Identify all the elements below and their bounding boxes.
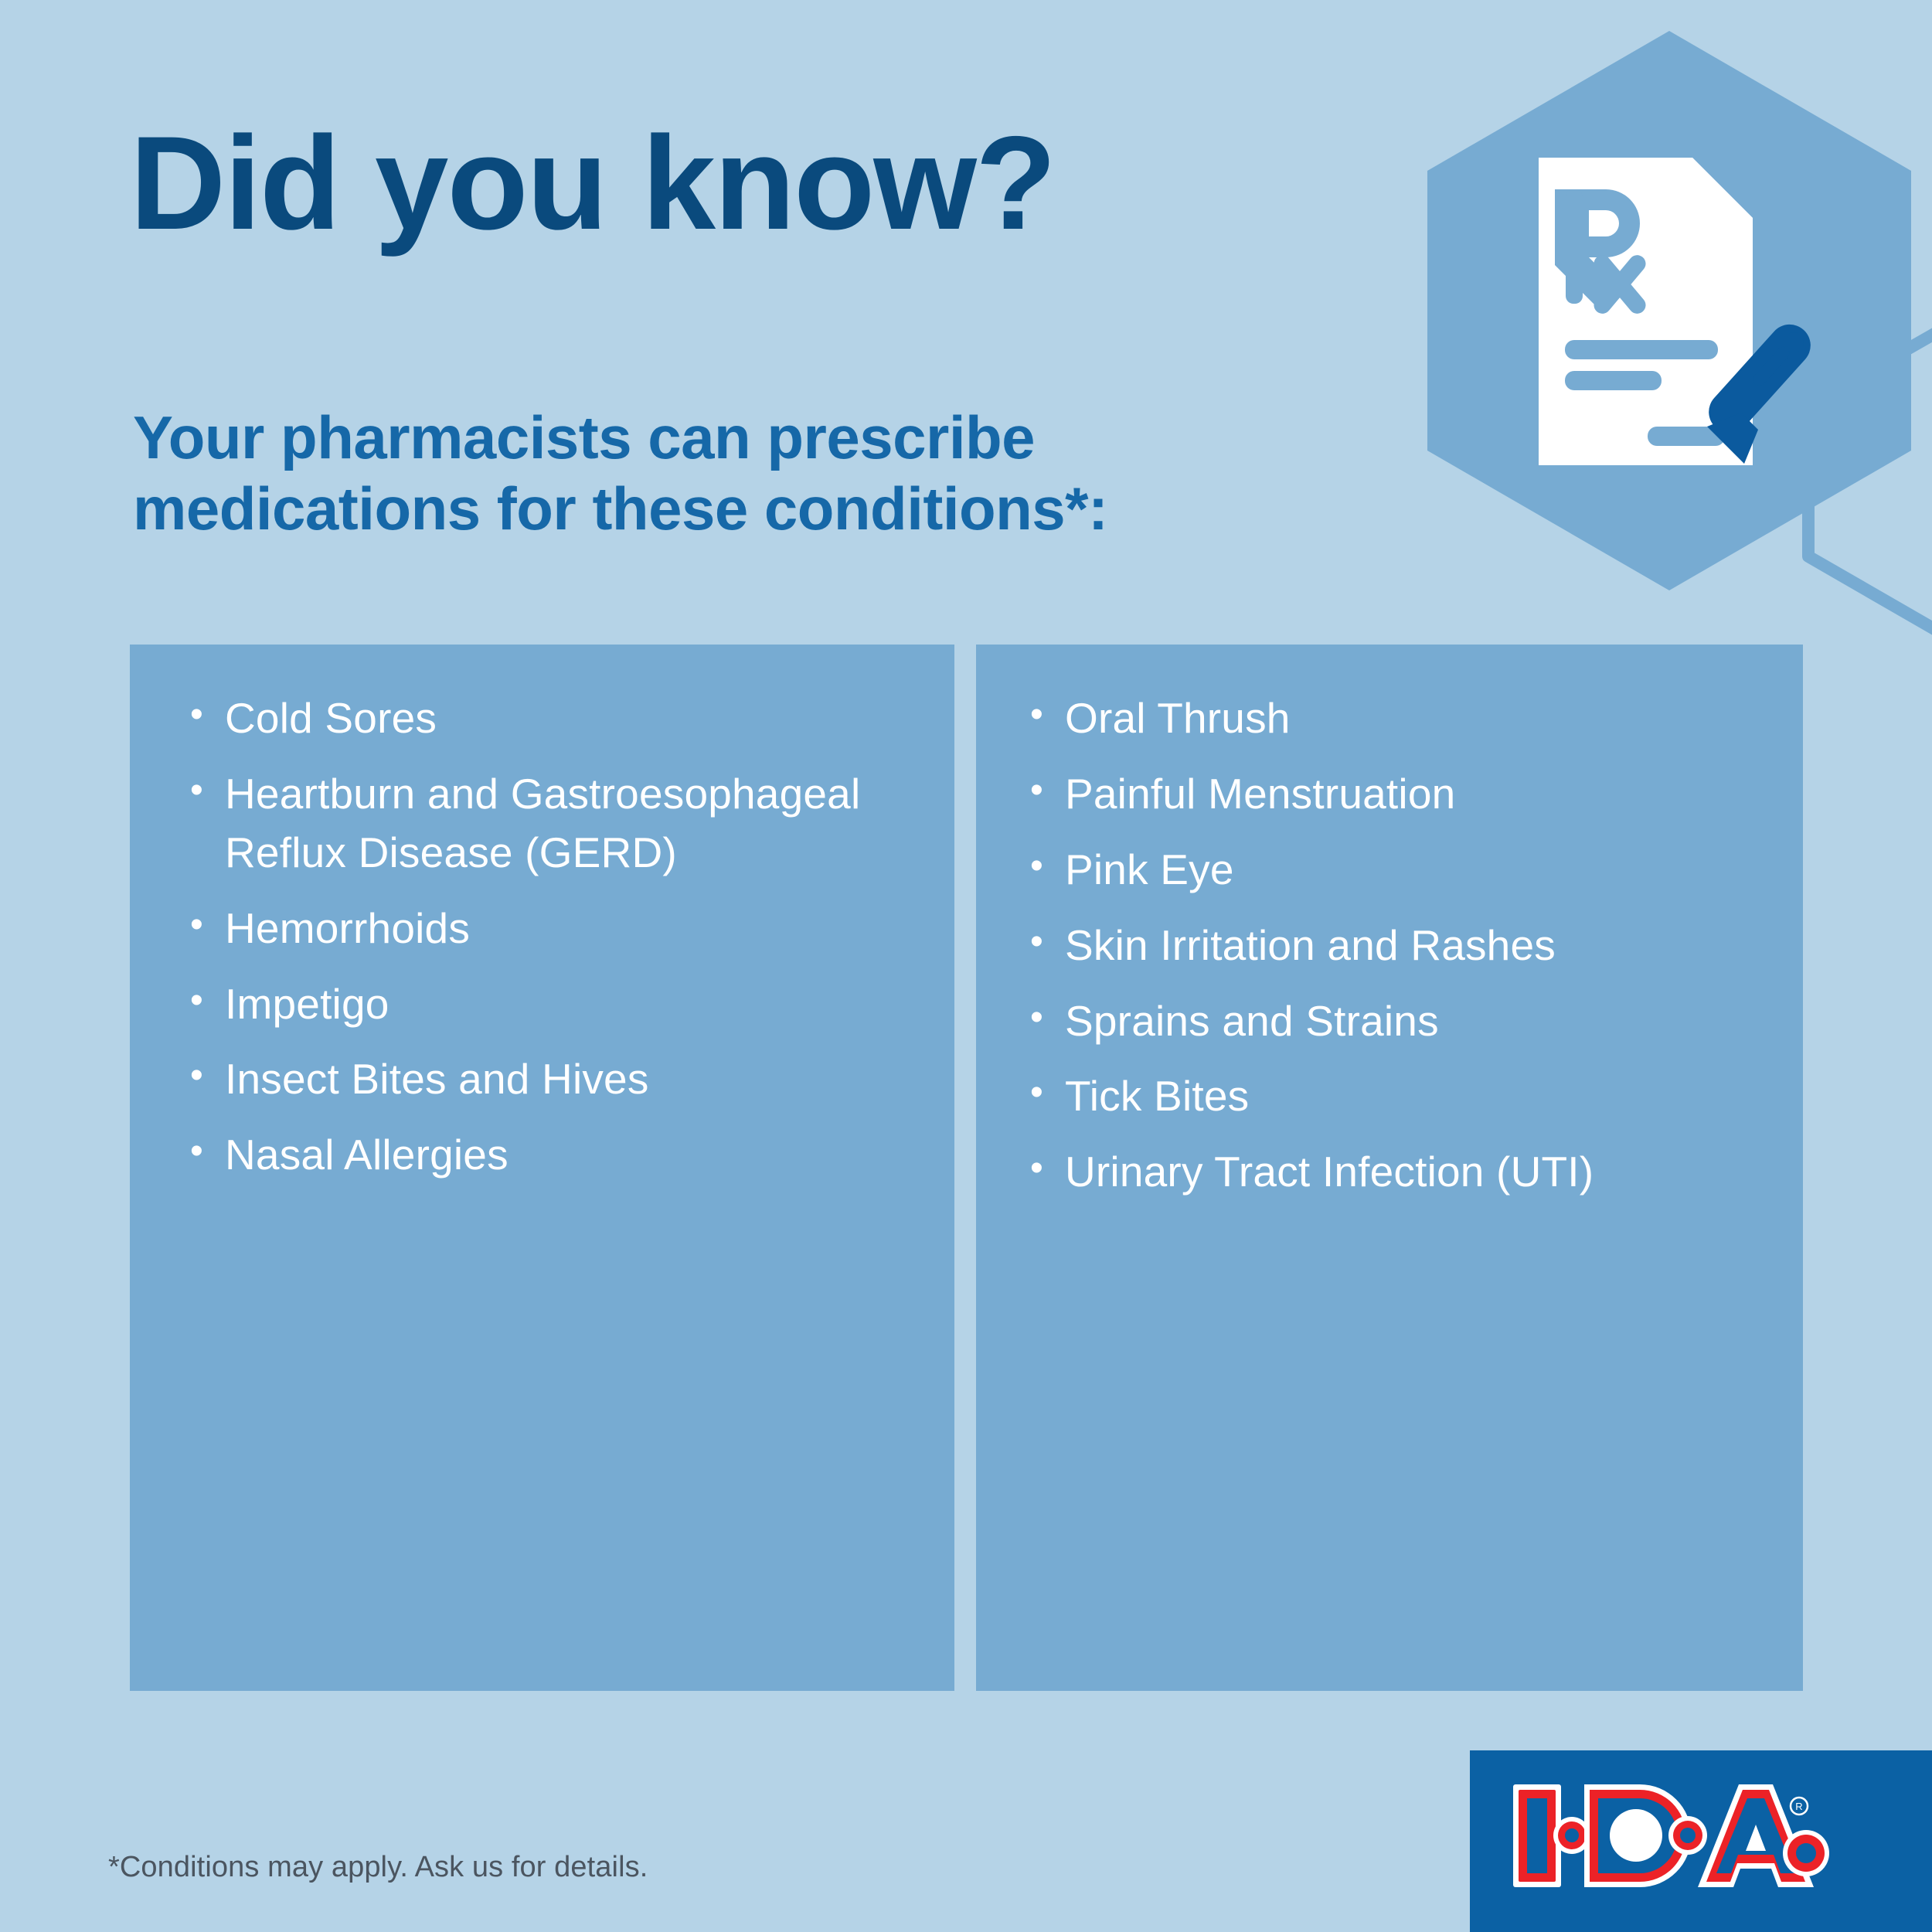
ida-logo-block: R — [1470, 1750, 1932, 1932]
list-item: Impetigo — [190, 975, 908, 1034]
list-item: Nasal Allergies — [190, 1126, 908, 1185]
pen-icon — [1700, 316, 1819, 464]
subtitle-line-1: Your pharmacists can prescribe — [133, 402, 1108, 473]
list-item: Urinary Tract Infection (UTI) — [1030, 1143, 1757, 1202]
conditions-list-left: Cold Sores Heartburn and Gastroesophagea… — [130, 689, 954, 1185]
page-title: Did you know? — [130, 116, 1055, 251]
page-subtitle: Your pharmacists can prescribe medicatio… — [133, 402, 1108, 544]
conditions-column-left: Cold Sores Heartburn and Gastroesophagea… — [130, 645, 954, 1691]
list-item: Heartburn and Gastroesophageal Reflux Di… — [190, 765, 908, 883]
list-item: Pink Eye — [1030, 841, 1757, 900]
list-item: Tick Bites — [1030, 1067, 1757, 1126]
rx-prescription-document-icon — [1539, 158, 1753, 465]
hexagon-outline-decoration — [1808, 331, 1932, 632]
conditions-panels: Cold Sores Heartburn and Gastroesophagea… — [130, 645, 1803, 1691]
list-item: Hemorrhoids — [190, 900, 908, 958]
list-item: Oral Thrush — [1030, 689, 1757, 748]
footnote-disclaimer: *Conditions may apply. Ask us for detail… — [108, 1851, 648, 1884]
list-item: Skin Irritation and Rashes — [1030, 917, 1757, 975]
ida-logo-icon: R — [1510, 1780, 1835, 1892]
list-item: Insect Bites and Hives — [190, 1050, 908, 1109]
subtitle-line-2: medications for these conditions*: — [133, 473, 1108, 544]
svg-text:R: R — [1795, 1801, 1802, 1812]
list-item: Painful Menstruation — [1030, 765, 1757, 824]
conditions-column-right: Oral Thrush Painful Menstruation Pink Ey… — [976, 645, 1803, 1691]
list-item: Sprains and Strains — [1030, 992, 1757, 1051]
conditions-list-right: Oral Thrush Painful Menstruation Pink Ey… — [976, 689, 1803, 1202]
hexagon-badge — [1427, 31, 1911, 590]
list-item: Cold Sores — [190, 689, 908, 748]
